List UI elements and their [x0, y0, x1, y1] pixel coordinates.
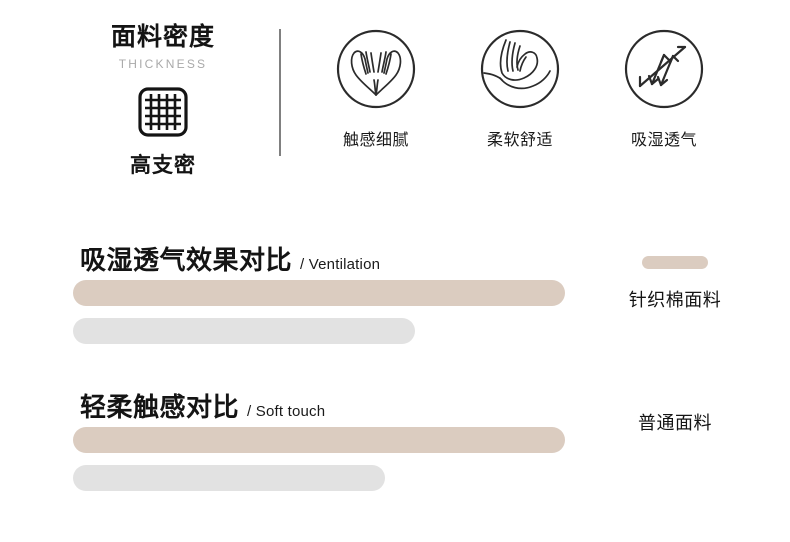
- legend-ordinary-fabric: 普通面料: [600, 409, 750, 435]
- legend-swatch: [642, 256, 708, 269]
- thickness-title: 面料密度: [78, 24, 248, 52]
- legend-knit-cotton: 针织棉面料: [600, 256, 750, 312]
- chart-title-en: / Ventilation: [300, 256, 380, 273]
- bar-ordinary-fabric: [73, 318, 415, 344]
- feature-label: 吸湿透气: [608, 126, 720, 150]
- thickness-subtitle: THICKNESS: [78, 57, 248, 71]
- grid-density-icon: [78, 83, 248, 141]
- feature-label: 触感细腻: [320, 126, 432, 150]
- feature-item-soft-handfeel: 触感细腻: [320, 26, 432, 150]
- airflow-arrows-icon: [608, 26, 720, 112]
- thickness-block: 面料密度 THICKNESS 高支密: [78, 24, 248, 179]
- chart-title-cn: 轻柔触感对比: [80, 387, 239, 424]
- hand-on-fabric-icon: [464, 26, 576, 112]
- feature-icon-row: 触感细腻 柔软舒适: [320, 26, 720, 150]
- legend-label: 普通面料: [600, 409, 750, 435]
- bar-knit-cotton: [73, 427, 565, 453]
- chart-title-cn: 吸湿透气效果对比: [80, 240, 292, 277]
- two-hands-icon: [320, 26, 432, 112]
- bar-ordinary-fabric: [73, 465, 385, 491]
- thickness-caption: 高支密: [78, 149, 248, 179]
- chart-heading: 轻柔触感对比 / Soft touch: [80, 387, 325, 424]
- vertical-divider: [279, 29, 281, 156]
- legend-label: 针织棉面料: [600, 286, 750, 312]
- feature-band: 面料密度 THICKNESS 高支密: [0, 0, 790, 185]
- chart-title-en: / Soft touch: [247, 403, 325, 420]
- feature-item-breathable: 吸湿透气: [608, 26, 720, 150]
- feature-label: 柔软舒适: [464, 126, 576, 150]
- chart-heading: 吸湿透气效果对比 / Ventilation: [80, 240, 380, 277]
- feature-item-softness: 柔软舒适: [464, 26, 576, 150]
- bar-knit-cotton: [73, 280, 565, 306]
